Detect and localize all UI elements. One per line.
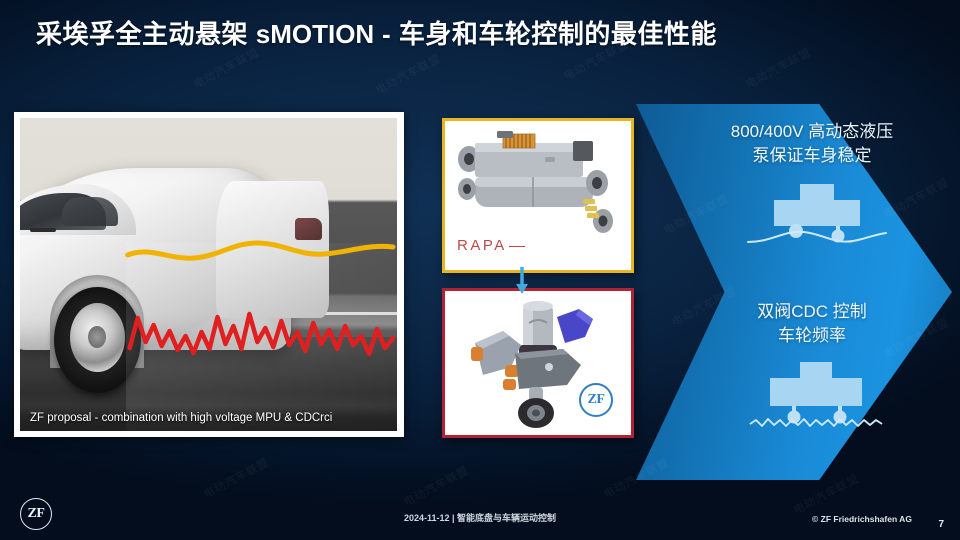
presentation-slide: 采埃孚全主动悬架 sMOTION - 车身和车轮控制的最佳性能 800/400V… <box>0 0 960 540</box>
slide-title-bar: 采埃孚全主动悬架 sMOTION - 车身和车轮控制的最佳性能 <box>0 0 960 66</box>
zf-brand-badge: ZF <box>579 383 613 417</box>
footer-copyright: © ZF Friedrichshafen AG <box>812 514 912 524</box>
vehicle-photo-frame: ZF proposal - combination with high volt… <box>14 112 404 437</box>
chevron-block-1-text: 800/400V 高动态液压 泵保证车身稳定 <box>636 120 952 168</box>
chevron-block-1-line-2: 泵保证车身稳定 <box>682 144 942 168</box>
photo-caption: ZF proposal - combination with high volt… <box>20 406 397 431</box>
chevron-block-hydraulic-pump: 800/400V 高动态液压 泵保证车身稳定 <box>636 120 952 250</box>
cdc-component-box: ZF <box>442 288 634 438</box>
footer-date-topic: 2024-11-12 | 智能底盘与车辆运动控制 <box>404 511 556 524</box>
chevron-block-cdc-control: 双阀CDC 控制 车轮频率 <box>636 300 952 430</box>
connector-arrow-icon <box>514 267 530 295</box>
rapa-brand-logo: RAPA <box>457 237 507 254</box>
zf-logo: ZF <box>20 498 52 530</box>
page-title: 采埃孚全主动悬架 sMOTION - 车身和车轮控制的最佳性能 <box>36 14 717 51</box>
vehicle-on-rough-wave-road-icon <box>636 358 952 430</box>
chevron-block-2-line-1: 双阀CDC 控制 <box>682 300 942 324</box>
body-motion-signal-curve <box>128 243 393 258</box>
signal-overlay <box>20 118 397 431</box>
title-english-product: sMOTION <box>256 19 374 49</box>
chevron-block-2-line-2: 车轮频率 <box>682 324 942 348</box>
chevron-block-2-text: 双阀CDC 控制 车轮频率 <box>636 300 952 348</box>
vehicle-photo: ZF proposal - combination with high volt… <box>20 118 397 431</box>
slide-footer: ZF 2024-11-12 | 智能底盘与车辆运动控制 © ZF Friedri… <box>0 492 960 540</box>
title-chinese-lead: 采埃孚全主动悬架 <box>36 19 248 49</box>
footer-page-number: 7 <box>938 519 944 530</box>
chevron-block-1-line-1: 800/400V 高动态液压 <box>682 120 942 144</box>
title-chinese-tail: - 车身和车轮控制的最佳性能 <box>382 19 717 49</box>
mpu-component-box: RAPA <box>442 118 634 273</box>
wheel-motion-signal-curve <box>130 314 393 354</box>
vehicle-on-smooth-wave-road-icon <box>636 178 952 250</box>
